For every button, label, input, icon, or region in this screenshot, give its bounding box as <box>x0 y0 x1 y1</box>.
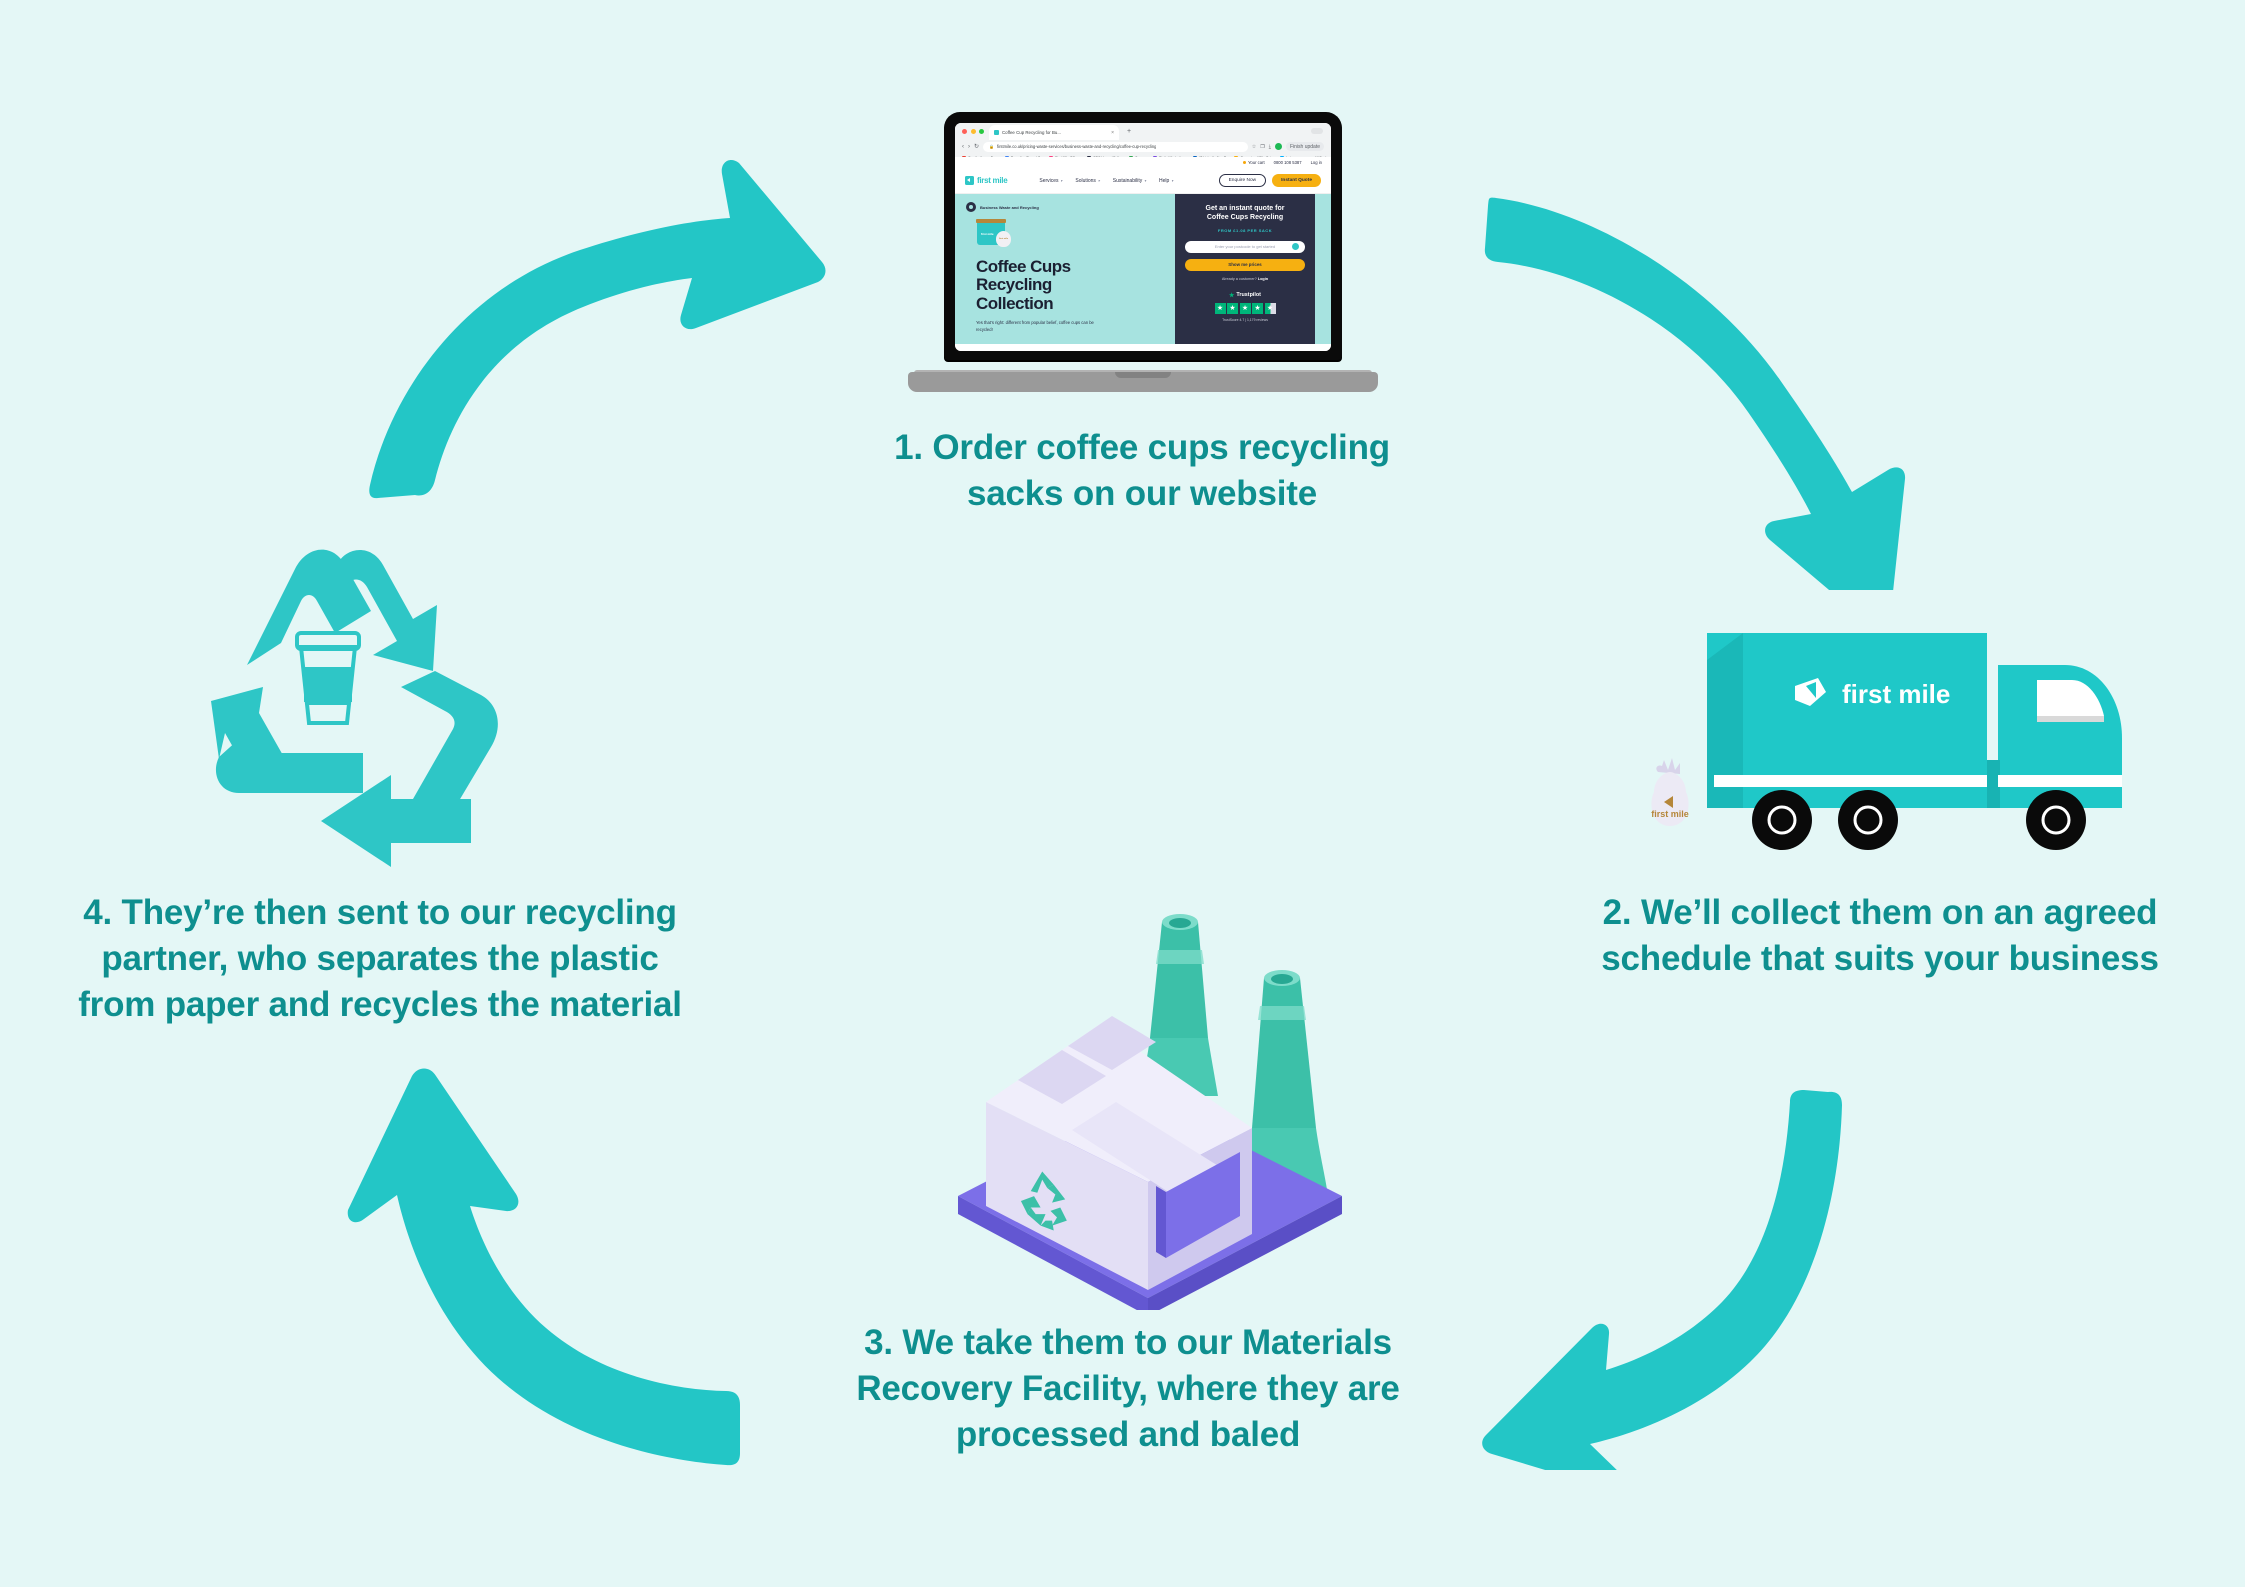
step-1-line-1: 1. Order coffee cups recycling <box>862 425 1422 471</box>
step-2-line-2: schedule that suits your business <box>1560 936 2200 982</box>
website-content: Your cart 0800 108 5387 Log in first mil… <box>955 157 1331 351</box>
update-pill[interactable]: Finish update <box>1286 142 1324 151</box>
star-icon: ★ <box>1227 303 1238 314</box>
svg-text:first mile: first mile <box>1842 679 1950 709</box>
browser-chrome: Coffee Cup Recycling for Bu... × + ‹ › ↻… <box>955 123 1331 157</box>
laptop-lid: Coffee Cup Recycling for Bu... × + ‹ › ↻… <box>944 112 1342 360</box>
step-4-caption: 4. They’re then sent to our recycling pa… <box>30 890 730 1029</box>
favicon-icon <box>994 130 999 135</box>
arrow-step2-to-step3 <box>1470 1050 1920 1470</box>
lock-icon: 🔒 <box>989 144 994 149</box>
chevron-down-icon: ▾ <box>1098 179 1100 183</box>
trustpilot-star-icon: ★ <box>1229 292 1234 299</box>
menu-item-sustainability[interactable]: Sustainability▾ <box>1113 178 1146 184</box>
arrow-step3-to-step4 <box>320 1060 770 1480</box>
show-me-prices-button[interactable]: Show me prices <box>1185 259 1305 271</box>
forward-icon[interactable]: › <box>968 144 970 150</box>
waste-sack: first mile <box>1651 758 1689 826</box>
browser-url-bar: ‹ › ↻ 🔒 firstmile.co.uk/pricing-waste-se… <box>955 140 1331 153</box>
trustpilot-name: Trustpilot <box>1236 292 1261 298</box>
browser-actions: ☆ ❐ ⤓ Finish update <box>1252 142 1324 151</box>
login-link[interactable]: Login <box>1258 277 1268 281</box>
star-icon: ★ <box>1252 303 1263 314</box>
recycling-symbol-icon <box>185 535 555 875</box>
step-3-line-1: 3. We take them to our Materials <box>828 1320 1428 1366</box>
quote-heading: Get an instant quote for Coffee Cups Rec… <box>1185 205 1305 223</box>
sack-graphic: first mile <box>996 231 1011 247</box>
chevron-down-icon: ▾ <box>1061 179 1063 183</box>
postcode-placeholder: Enter your postcode to get started <box>1215 244 1275 249</box>
window-controls[interactable] <box>962 129 984 134</box>
trustpilot-score: TrustScore 4.7 | 1,179 reviews <box>1185 318 1305 322</box>
step-1-line-2: sacks on our website <box>862 471 1422 517</box>
quote-price-subheading: FROM £1.08 PER SACK <box>1185 228 1305 233</box>
bookmark-star-icon[interactable]: ☆ <box>1252 144 1256 150</box>
bin-label: first mile <box>981 232 994 236</box>
step-4-line-3: from paper and recycles the material <box>30 982 730 1028</box>
chevron-down-icon: ▾ <box>1171 179 1173 183</box>
address-bar[interactable]: 🔒 firstmile.co.uk/pricing-waste-services… <box>983 142 1248 152</box>
postcode-input[interactable]: Enter your postcode to get started <box>1185 241 1305 253</box>
reload-icon[interactable]: ↻ <box>974 143 979 150</box>
minimize-window-dot[interactable] <box>971 129 976 134</box>
step-1-caption: 1. Order coffee cups recycling sacks on … <box>862 425 1422 517</box>
new-tab-button[interactable]: + <box>1127 128 1131 135</box>
trustpilot-header: ★ Trustpilot <box>1185 292 1305 299</box>
bin-and-sack-illustration: first mile first mile <box>976 219 1006 249</box>
trustpilot-widget: ★ Trustpilot ★ ★ ★ ★ ★ Tr <box>1185 292 1305 322</box>
laptop-illustration: Coffee Cup Recycling for Bu... × + ‹ › ↻… <box>908 112 1378 392</box>
hero-section: Business Waste and Recycling first mile … <box>955 194 1331 344</box>
step-4-line-1: 4. They’re then sent to our recycling <box>30 890 730 936</box>
primary-menu: Services▾ Solutions▾ Sustainability▾ Hel… <box>1039 178 1173 184</box>
maximize-window-dot[interactable] <box>979 129 984 134</box>
location-pin-icon[interactable] <box>1292 243 1299 250</box>
arrow-step4-to-step1 <box>330 150 830 510</box>
existing-customer-prompt: Already a customer? Login <box>1185 277 1305 281</box>
laptop-base <box>908 372 1378 392</box>
materials-recovery-facility-illustration <box>940 890 1360 1310</box>
close-tab-icon[interactable]: × <box>1111 130 1114 136</box>
collection-truck-illustration: first mile first mile <box>1610 620 2150 880</box>
step-2-line-1: 2. We’ll collect them on an agreed <box>1560 890 2200 936</box>
split-view-icon[interactable]: ❐ <box>1260 144 1264 150</box>
trustpilot-stars: ★ ★ ★ ★ ★ <box>1185 303 1305 314</box>
url-text: firstmile.co.uk/pricing-waste-services/b… <box>997 144 1156 149</box>
step-4-line-2: partner, who separates the plastic <box>30 936 730 982</box>
star-icon: ★ <box>1240 303 1251 314</box>
window-menu-button[interactable] <box>1311 128 1323 134</box>
instant-quote-button[interactable]: Instant Quote <box>1272 174 1321 186</box>
svg-text:first mile: first mile <box>1651 809 1689 819</box>
login-link[interactable]: Log in <box>1311 160 1322 165</box>
half-star-icon: ★ <box>1265 303 1276 314</box>
utility-bar: Your cart 0800 108 5387 Log in <box>955 157 1331 168</box>
instant-quote-panel: Get an instant quote for Coffee Cups Rec… <box>1175 194 1315 344</box>
step-2-caption: 2. We’ll collect them on an agreed sched… <box>1560 890 2200 982</box>
site-navbar: first mile Services▾ Solutions▾ Sustaina… <box>955 168 1331 194</box>
recycle-arrows <box>211 550 498 867</box>
menu-item-help[interactable]: Help▾ <box>1159 178 1173 184</box>
menu-item-services[interactable]: Services▾ <box>1039 178 1062 184</box>
profile-avatar[interactable] <box>1275 143 1282 150</box>
browser-tab-title: Coffee Cup Recycling for Bu... <box>1002 130 1061 135</box>
star-icon: ★ <box>1215 303 1226 314</box>
hero-body-text: Yes that’s right: different from popular… <box>976 320 1106 333</box>
chevron-down-icon: ▾ <box>1144 179 1146 183</box>
infographic-canvas: Coffee Cup Recycling for Bu... × + ‹ › ↻… <box>0 0 2245 1587</box>
menu-item-solutions[interactable]: Solutions▾ <box>1075 178 1099 184</box>
back-icon[interactable]: ‹ <box>962 144 964 150</box>
download-icon[interactable]: ⤓ <box>1269 144 1271 150</box>
logo-text: first mile <box>977 176 1007 185</box>
arrow-step1-to-step2 <box>1470 170 1910 590</box>
laptop-screen: Coffee Cup Recycling for Bu... × + ‹ › ↻… <box>955 123 1331 351</box>
cart-link[interactable]: Your cart <box>1243 160 1265 165</box>
enquire-now-button[interactable]: Enquire Now <box>1219 174 1266 187</box>
first-mile-logo-icon <box>965 176 974 185</box>
breadcrumb-avatar-icon <box>966 202 976 212</box>
breadcrumb-label: Business Waste and Recycling <box>980 205 1039 210</box>
first-mile-logo[interactable]: first mile <box>965 176 1007 185</box>
step-3-line-3: processed and baled <box>828 1412 1428 1458</box>
phone-number[interactable]: 0800 108 5387 <box>1274 160 1302 165</box>
step-3-caption: 3. We take them to our Materials Recover… <box>828 1320 1428 1459</box>
sack-label: first mile <box>999 238 1008 240</box>
close-window-dot[interactable] <box>962 129 967 134</box>
step-3-line-2: Recovery Facility, where they are <box>828 1366 1428 1412</box>
browser-tab[interactable]: Coffee Cup Recycling for Bu... × <box>989 125 1119 140</box>
nav-buttons: Enquire Now Instant Quote <box>1219 174 1321 187</box>
